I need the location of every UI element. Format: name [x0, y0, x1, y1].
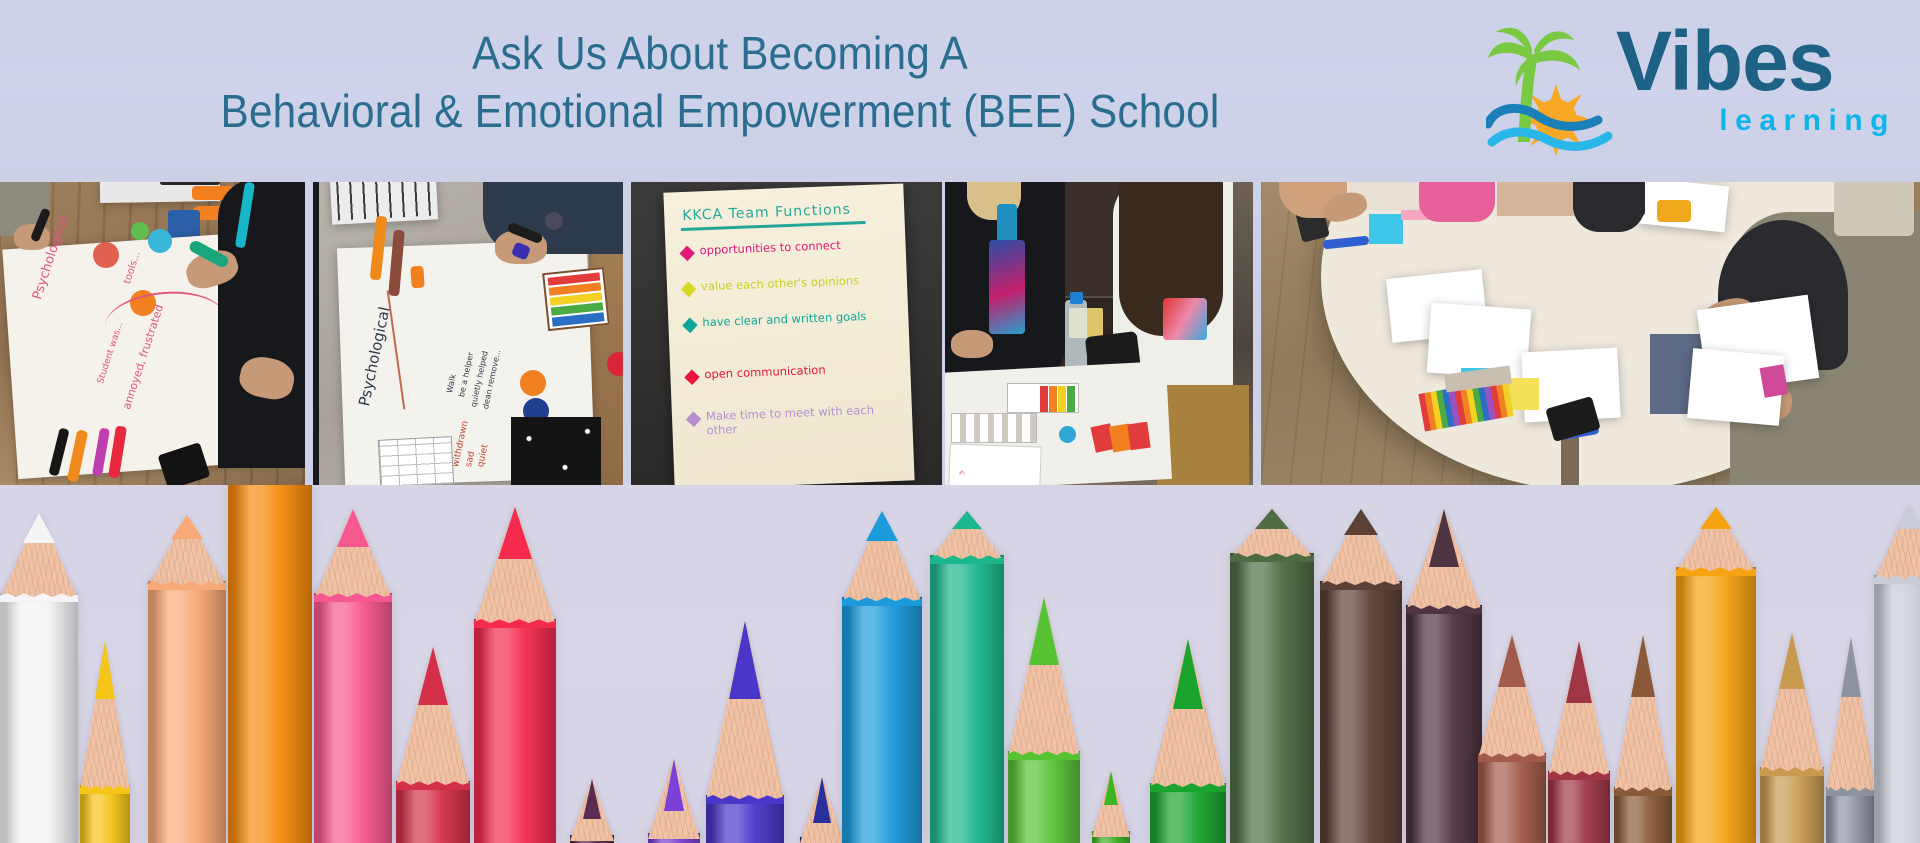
pencil-body: [228, 485, 312, 843]
pencil-lead: [1429, 509, 1459, 567]
photo-4-staff-reviewing-charts[interactable]: ✍: [945, 182, 1253, 485]
pencil-bright-green: [1092, 765, 1130, 843]
banner-header: Ask Us About Becoming A Behavioral & Emo…: [0, 0, 1920, 182]
pencil-lead: [1700, 507, 1732, 529]
photo-1-chart-paper-session[interactable]: Psychological tools... Student was... an…: [0, 182, 305, 485]
pencil-lead: [583, 779, 601, 819]
pencil-violet: [648, 753, 700, 843]
pencil-body: [1150, 783, 1226, 843]
pencil-lead: [952, 511, 982, 529]
pencil-lead: [95, 641, 115, 699]
pencil-body: [1478, 753, 1546, 843]
kkca-item-4: open communication: [704, 360, 904, 382]
pencil-body: [0, 593, 78, 843]
palm-sun-wave-icon: [1486, 24, 1614, 156]
pencil-crimson: [396, 641, 470, 843]
pencil-pink: [314, 503, 392, 843]
pencil-body: [930, 555, 1004, 843]
kkca-item-3: have clear and written goals: [702, 309, 872, 330]
pencil-body: [314, 593, 392, 843]
pencil-body: [1548, 771, 1610, 843]
pencil-body: [1874, 575, 1920, 843]
pencil-lead: [1498, 635, 1526, 687]
pencil-lead: [1779, 633, 1805, 689]
pencil-lead: [664, 759, 684, 811]
pencil-gray: [1826, 631, 1876, 843]
logo-tagline-text: learning: [1616, 104, 1898, 138]
pencil-lead: [337, 509, 369, 547]
pencil-lead: [1029, 597, 1059, 665]
pencil-peach: [148, 509, 226, 843]
pencil-body: [1676, 567, 1756, 843]
pencil-body: [1760, 767, 1824, 843]
pencil-lead: [1104, 771, 1118, 805]
bullet-diamond-2: [681, 282, 697, 298]
pencil-dark-purple: [570, 773, 614, 843]
pencil-lead: [1841, 637, 1861, 697]
pencil-body: [1320, 581, 1402, 843]
pencil-lead: [813, 777, 831, 823]
pencil-red: [474, 501, 556, 843]
photo-3-kkca-team-functions-poster[interactable]: KKCA Team Functions opportunities to con…: [631, 182, 942, 485]
pencil-olive-green: [1230, 503, 1314, 843]
page-title: Ask Us About Becoming A Behavioral & Emo…: [0, 26, 1440, 139]
kkca-poster: KKCA Team Functions opportunities to con…: [663, 184, 914, 485]
pencil-blue: [842, 505, 922, 843]
logo-wordmark: Vibes learning: [1616, 22, 1898, 162]
headline-line-2: Behavioral & Emotional Empowerment (BEE)…: [58, 84, 1383, 138]
vibes-learning-logo[interactable]: Vibes learning: [1486, 16, 1898, 166]
pencil-collar: [1874, 575, 1920, 584]
pencil-body: [148, 581, 226, 843]
pencil-body: [474, 619, 556, 843]
banner-page: Ask Us About Becoming A Behavioral & Emo…: [0, 0, 1920, 843]
bullet-diamond-3: [682, 318, 698, 334]
pencil-body: [396, 781, 470, 843]
pencil-lead: [1344, 509, 1378, 535]
photo-strip: Psychological tools... Student was... an…: [0, 182, 1920, 485]
pencil-body: [842, 597, 922, 843]
pencil-brown: [1320, 503, 1402, 843]
pencil-silver: [1874, 499, 1920, 843]
pencil-body: [1008, 751, 1080, 843]
pencil-lead: [498, 507, 532, 559]
pencil-white: [0, 507, 78, 843]
bullet-diamond-5: [686, 411, 702, 427]
pencil-dark-plum: [1406, 503, 1482, 843]
pencil-sienna: [1614, 629, 1672, 843]
pencil-navy: [800, 771, 844, 843]
pencil-light-green: [1008, 591, 1080, 843]
pencil-lead: [729, 621, 761, 699]
bullet-diamond-1: [679, 246, 695, 262]
pencil-terracotta: [1478, 629, 1546, 843]
pencil-lead: [1566, 641, 1592, 703]
pencil-orange: [228, 485, 312, 843]
pencil-lead: [866, 511, 898, 541]
photo-5-group-around-round-table[interactable]: [1261, 182, 1920, 485]
pencil-lead: [1631, 635, 1655, 697]
pencil-body: [1230, 553, 1314, 843]
pencil-yellow: [80, 635, 130, 843]
pencil-lead: [171, 515, 203, 539]
headline-line-1: Ask Us About Becoming A: [58, 26, 1383, 80]
pencil-green: [1150, 633, 1226, 843]
kkca-item-2: value each other's opinions: [701, 272, 901, 294]
pencil-teal: [930, 505, 1004, 843]
pencil-lead: [23, 513, 55, 543]
colored-pencil-band: [0, 485, 1920, 843]
bullet-diamond-4: [684, 369, 700, 385]
pencil-lead: [1255, 509, 1289, 529]
kkca-item-1: opportunities to connect: [699, 236, 899, 258]
pencil-lead: [1895, 505, 1920, 529]
kkca-item-5: Make time to meet with each other: [706, 402, 887, 438]
pencil-maroon: [1548, 635, 1610, 843]
pencil-amber: [1676, 501, 1756, 843]
pencil-tan: [1760, 627, 1824, 843]
pencil-lead: [418, 647, 448, 705]
photo-2-overhead-worksheet[interactable]: Psychological Walk be a helper quietly h…: [313, 182, 623, 485]
pencil-body: [1406, 605, 1482, 843]
kkca-poster-title: KKCA Team Functions: [682, 202, 851, 224]
pencil-indigo: [706, 615, 784, 843]
pencil-lead: [1173, 639, 1203, 709]
logo-brand-text: Vibes: [1616, 22, 1898, 102]
